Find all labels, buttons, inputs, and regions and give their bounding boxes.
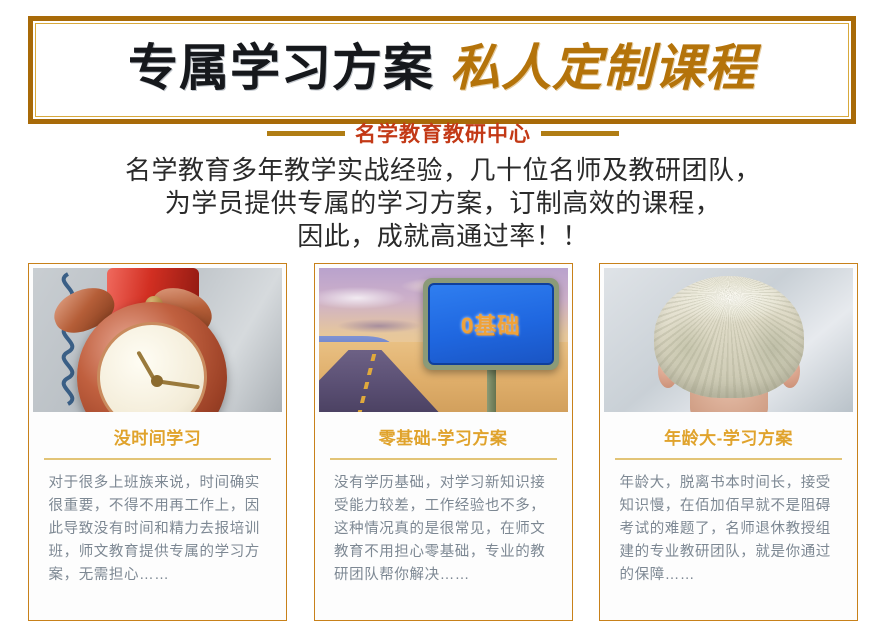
road-sign-board: 0基础 bbox=[423, 278, 559, 370]
page-title-part-accent: 私人定制课程 bbox=[450, 40, 756, 96]
road-sign-face: 0基础 bbox=[428, 283, 554, 365]
road-sign-text: 0基础 bbox=[461, 308, 520, 340]
page-title: 专属学习方案私人定制课程 bbox=[128, 43, 756, 93]
road-sign-post bbox=[487, 363, 496, 412]
alarm-clock-photo bbox=[33, 268, 282, 412]
description-paragraph: 名学教育多年教学实战经验，几十位名师及教研团队， 为学员提供专属的学习方案，订制… bbox=[0, 154, 886, 253]
feature-card-divider bbox=[44, 458, 271, 460]
clock-center-pin bbox=[151, 375, 163, 387]
header-banner-inner-frame: 专属学习方案私人定制课程 bbox=[35, 23, 849, 117]
subtitle-rule-right bbox=[541, 131, 619, 136]
feature-card-divider bbox=[615, 458, 842, 460]
clock-face bbox=[97, 322, 207, 412]
feature-card-title: 零基础-学习方案 bbox=[379, 424, 508, 449]
feature-card-list: 没时间学习 对于很多上班族来说，时间确实很重要，不得不用再工作上，因此导致没有时… bbox=[28, 263, 858, 621]
feature-card-body: 年龄大，脱离书本时间长，接受知识慢，在佰加佰早就不是阻碍考试的难题了，名师退休教… bbox=[620, 472, 838, 587]
feature-card[interactable]: 没时间学习 对于很多上班族来说，时间确实很重要，不得不用再工作上，因此导致没有时… bbox=[28, 263, 287, 621]
feature-card-divider bbox=[330, 458, 557, 460]
desert-road-sign-photo: 0基础 bbox=[319, 268, 568, 412]
feature-card[interactable]: 年龄大-学习方案 年龄大，脱离书本时间长，接受知识慢，在佰加佰早就不是阻碍考试的… bbox=[599, 263, 858, 621]
feature-card[interactable]: 0基础 零基础-学习方案 没有学历基础，对学习新知识接受能力较差，工作经验也不多… bbox=[314, 263, 573, 621]
description-line-2: 为学员提供专属的学习方案，订制高效的课程， bbox=[0, 187, 886, 220]
description-line-3: 因此，成就高通过率！！ bbox=[0, 220, 886, 253]
page-title-part-primary: 专属学习方案 bbox=[128, 40, 434, 96]
feature-card-body: 对于很多上班族来说，时间确实很重要，不得不用再工作上，因此导致没有时间和精力去报… bbox=[49, 472, 267, 587]
feature-card-title: 没时间学习 bbox=[114, 424, 202, 449]
feature-card-title: 年龄大-学习方案 bbox=[664, 424, 793, 449]
gray-haired-head-photo bbox=[604, 268, 853, 412]
promo-poster: 专属学习方案私人定制课程 名学教育教研中心 名学教育多年教学实战经验，几十位名师… bbox=[0, 0, 886, 634]
description-line-1: 名学教育多年教学实战经验，几十位名师及教研团队， bbox=[0, 154, 886, 187]
subtitle-rule-left bbox=[267, 131, 345, 136]
header-banner: 专属学习方案私人定制课程 bbox=[28, 16, 856, 124]
subtitle-row: 名学教育教研中心 bbox=[0, 118, 886, 148]
subtitle-text: 名学教育教研中心 bbox=[355, 118, 531, 148]
feature-card-body: 没有学历基础，对学习新知识接受能力较差，工作经验也不多，这种情况真的是很常见，在… bbox=[334, 472, 552, 587]
hair-strands-texture bbox=[654, 276, 804, 398]
